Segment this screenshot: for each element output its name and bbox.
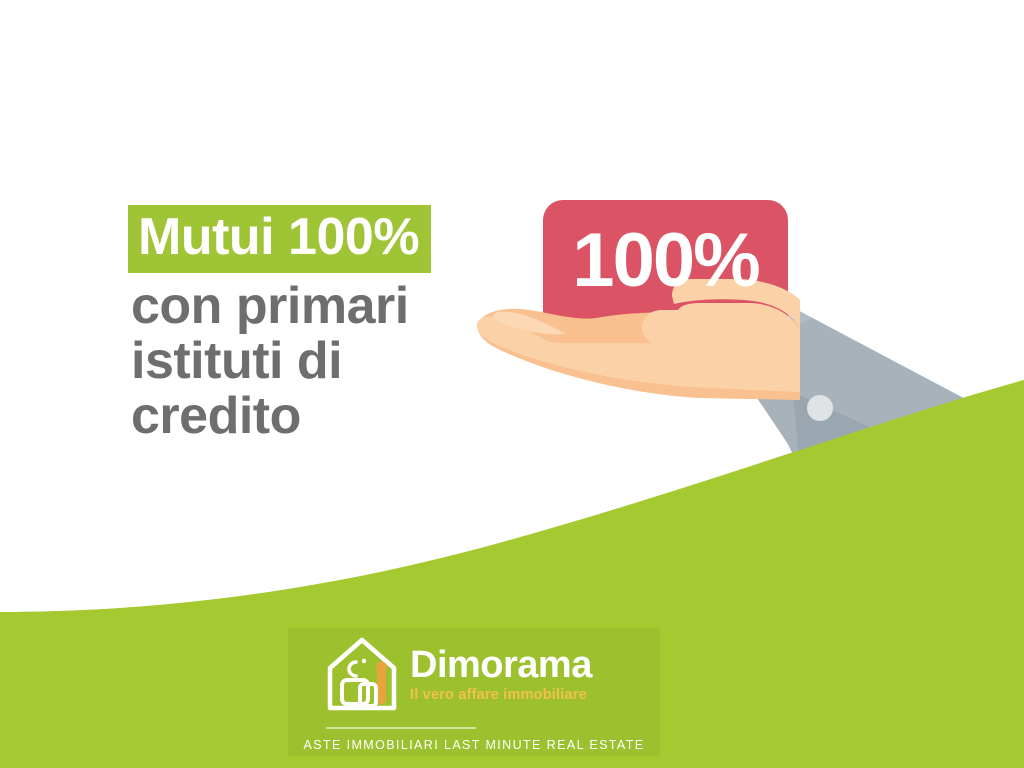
- house-logo-icon: [320, 632, 404, 716]
- headline-line-2: istituti di: [131, 334, 548, 389]
- house-accent-dot: [376, 662, 387, 673]
- headline-highlight: Mutui 100%: [128, 205, 431, 273]
- brand-logo[interactable]: Dimorama Il vero affare immobiliare ASTE…: [288, 628, 660, 756]
- house-key-motif: [349, 662, 356, 676]
- cuff-button-icon: [807, 395, 833, 421]
- logo-wordmark: Dimorama Il vero affare immobiliare: [410, 646, 592, 703]
- logo-tagline: Il vero affare immobiliare: [410, 688, 592, 703]
- headline-line-3: credito: [131, 389, 548, 444]
- headline-line-1: con primari: [131, 279, 548, 334]
- headline-lines: con primari istituti di credito: [128, 279, 548, 444]
- logo-name: Dimorama: [410, 646, 592, 684]
- logo-subtitle: ASTE IMMOBILIARI LAST MINUTE REAL ESTATE: [303, 738, 644, 752]
- logo-row: Dimorama Il vero affare immobiliare: [288, 628, 660, 720]
- percent-badge-label: 100%: [543, 200, 788, 320]
- headline-block: Mutui 100% con primari istituti di credi…: [128, 205, 548, 444]
- promo-banner: Mutui 100% con primari istituti di credi…: [0, 0, 1024, 768]
- logo-divider: [326, 727, 476, 729]
